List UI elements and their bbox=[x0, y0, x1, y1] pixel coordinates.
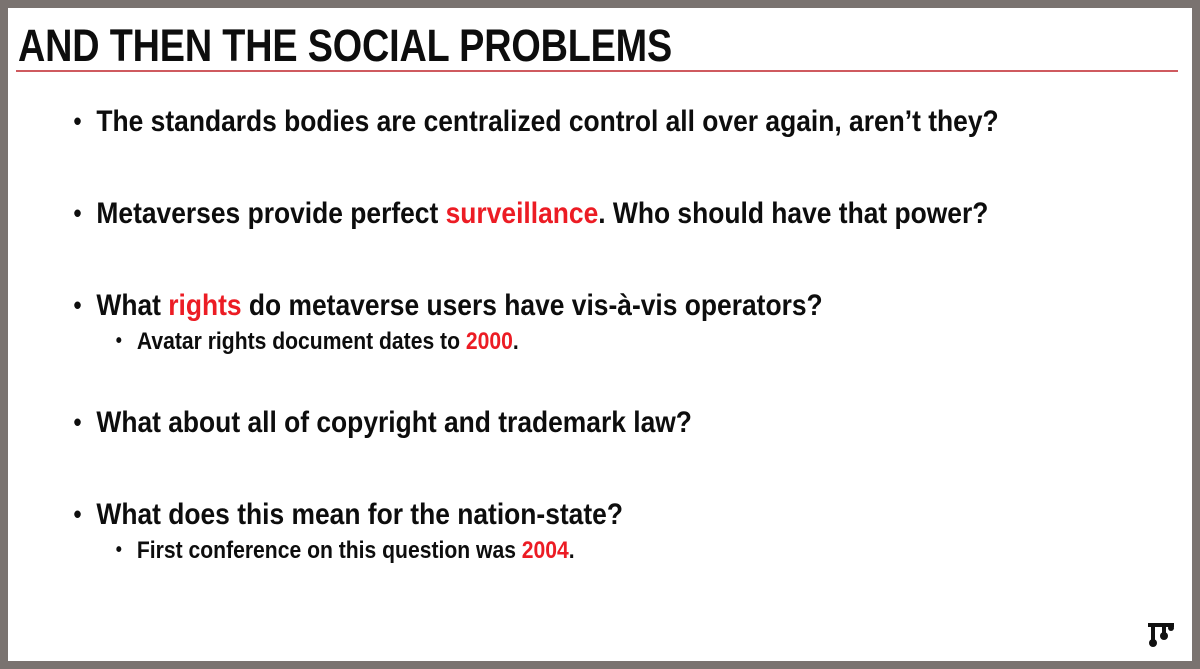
page-title: And Then the Social Problems bbox=[18, 22, 994, 70]
bullet-text: What about all of copyright and trademar… bbox=[96, 406, 692, 439]
list-item: What about all of copyright and trademar… bbox=[70, 405, 1040, 441]
list-item: The standards bodies are centralized con… bbox=[70, 104, 1040, 140]
sub-bullet-text: Avatar rights document dates to 2000. bbox=[137, 328, 519, 355]
bullet-text: What does this mean for the nation-state… bbox=[96, 498, 623, 531]
list-item: Metaverses provide perfect surveillance.… bbox=[70, 196, 1040, 232]
pi-mark-logo-icon bbox=[1142, 619, 1176, 651]
slide-content-area: And Then the Social Problems The standar… bbox=[8, 8, 1192, 661]
spacer bbox=[70, 441, 1172, 497]
sub-list-item: Avatar rights document dates to 2000. bbox=[70, 327, 1040, 357]
sub-list-item: First conference on this question was 20… bbox=[70, 536, 1040, 566]
bullet-text: Metaverses provide perfect surveillance.… bbox=[96, 197, 988, 230]
slide: And Then the Social Problems The standar… bbox=[0, 0, 1200, 669]
bullet-text: What rights do metaverse users have vis-… bbox=[96, 289, 822, 322]
emphasis-text: 2004 bbox=[522, 537, 569, 564]
spacer bbox=[70, 357, 1172, 405]
bullet-text: The standards bodies are centralized con… bbox=[96, 105, 998, 138]
spacer bbox=[70, 140, 1172, 196]
bullet-list: The standards bodies are centralized con… bbox=[70, 104, 1172, 566]
title-block: And Then the Social Problems bbox=[18, 22, 1180, 70]
emphasis-text: 2000 bbox=[466, 328, 513, 355]
emphasis-text: rights bbox=[168, 289, 241, 322]
sub-bullet-text: First conference on this question was 20… bbox=[137, 537, 575, 564]
spacer bbox=[70, 232, 1172, 288]
emphasis-text: surveillance bbox=[446, 197, 599, 230]
list-item: What does this mean for the nation-state… bbox=[70, 497, 1040, 533]
list-item: What rights do metaverse users have vis-… bbox=[70, 288, 1040, 324]
title-underline-rule bbox=[16, 70, 1178, 72]
